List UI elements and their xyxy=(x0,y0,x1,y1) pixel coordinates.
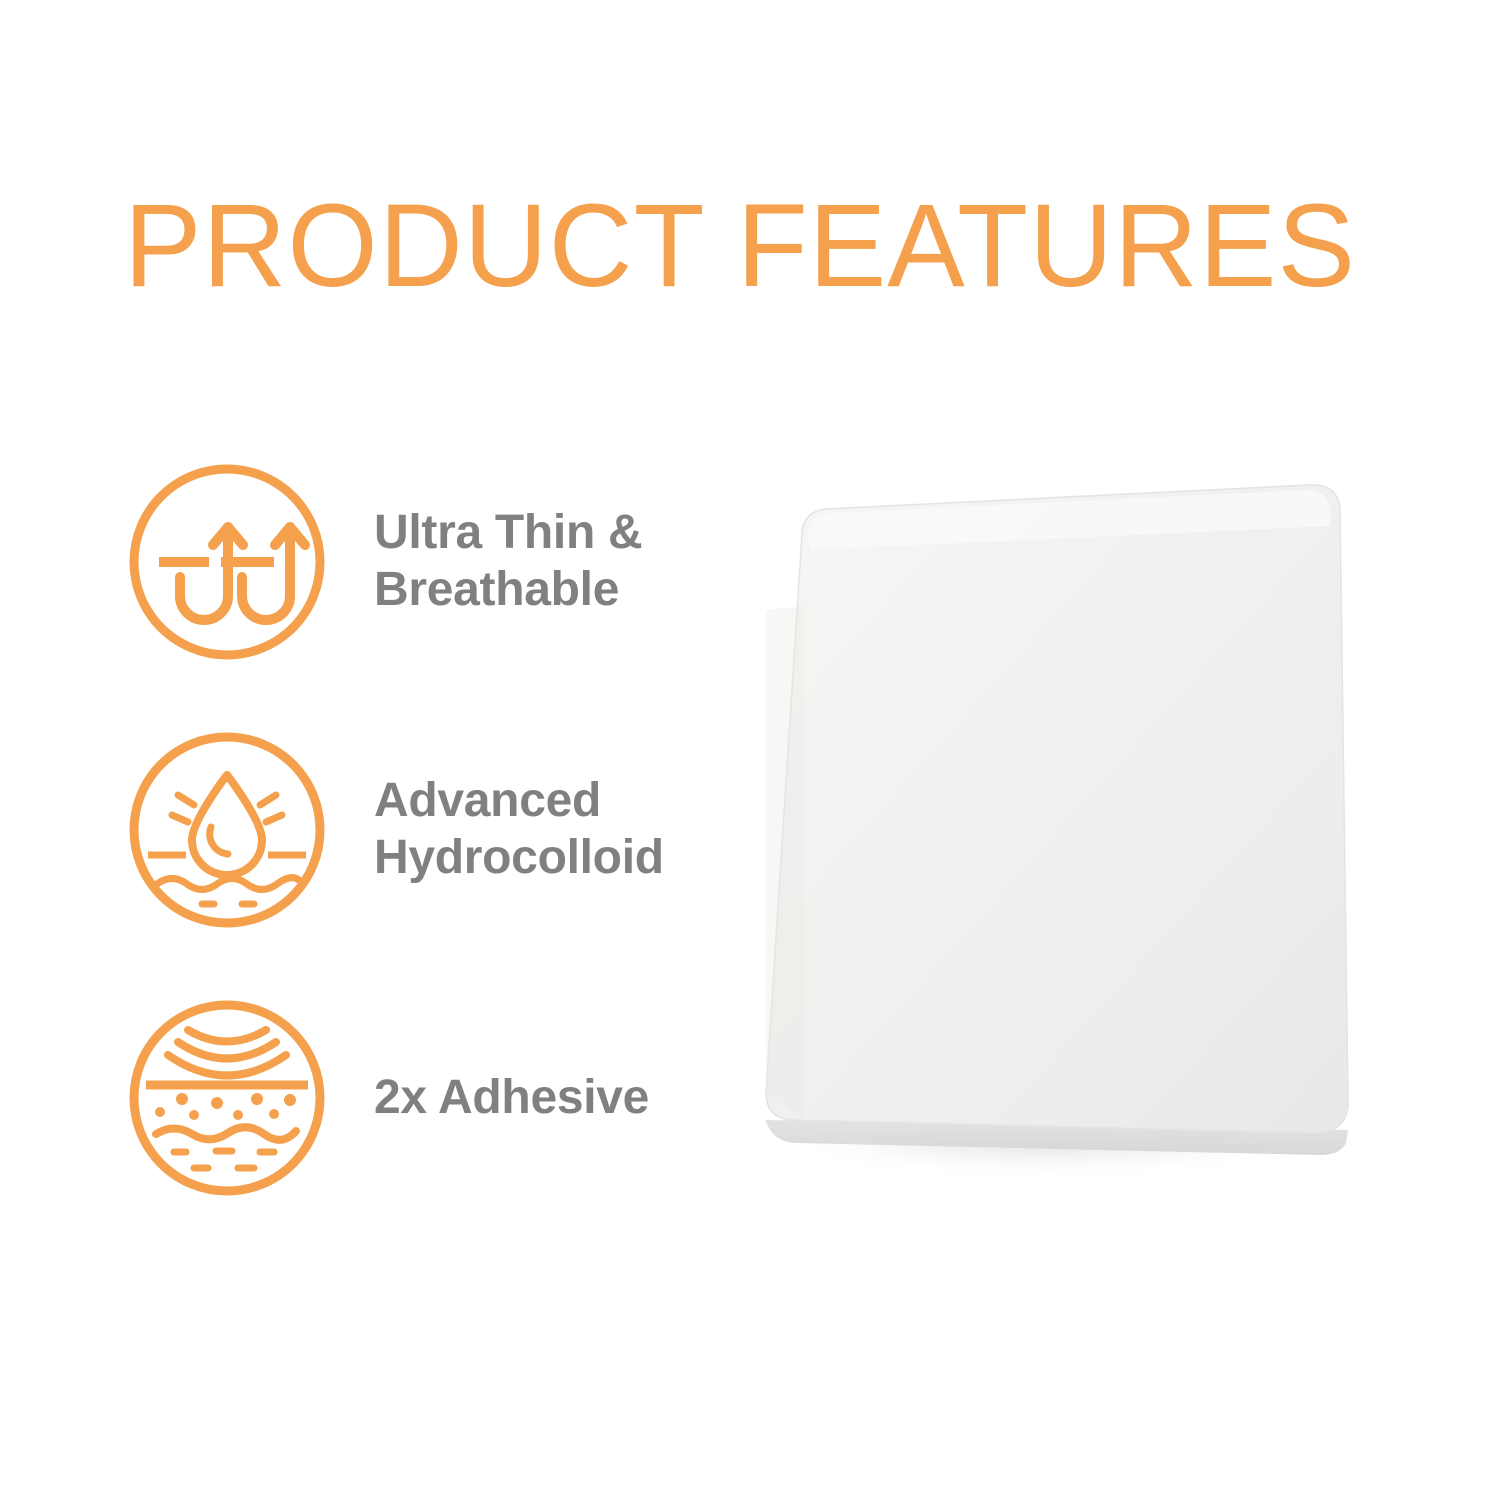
feature-list: Ultra Thin & Breathable xyxy=(0,0,760,1500)
adhesive-layers-icon xyxy=(124,995,330,1201)
product-features-infographic: PRODUCT FEATURES Ultra Thin & Brea xyxy=(0,0,1500,1500)
water-droplet-icon xyxy=(124,727,330,933)
feature-item-2x-adhesive: 2x Adhesive xyxy=(124,993,744,1203)
feature-item-advanced-hydrocolloid: Advanced Hydrocolloid xyxy=(124,725,744,935)
feature-item-ultra-thin-breathable: Ultra Thin & Breathable xyxy=(124,457,744,667)
feature-label-2x-adhesive: 2x Adhesive xyxy=(374,1070,744,1127)
product-image xyxy=(700,430,1460,1230)
breathable-arrows-icon xyxy=(124,459,330,665)
feature-label-advanced-hydrocolloid: Advanced Hydrocolloid xyxy=(374,773,744,886)
feature-label-ultra-thin-breathable: Ultra Thin & Breathable xyxy=(374,505,744,618)
